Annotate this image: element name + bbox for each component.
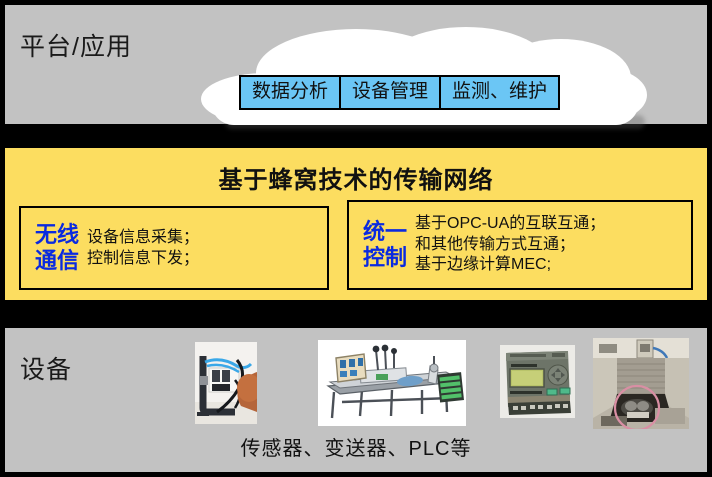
production-line-illustration <box>318 340 466 426</box>
plc-logic-module-photo <box>500 345 575 418</box>
plc-module-illustration <box>500 345 575 418</box>
unified-control-box: 统一 控制 基于OPC-UA的互联互通； 和其他传输方式互通； 基于边缘计算ME… <box>347 200 693 290</box>
unified-control-keyword: 统一 控制 <box>349 219 415 271</box>
network-band-title: 基于蜂窝技术的传输网络 <box>5 160 707 195</box>
device-band: 设备 <box>5 328 707 472</box>
keyword-line-1: 无线 <box>35 222 79 248</box>
machine-interior-illustration <box>593 338 689 429</box>
platform-band-label: 平台/应用 <box>20 27 132 63</box>
wireless-communication-box: 无线 通信 设备信息采集； 控制信息下发； <box>19 206 329 290</box>
wiring-terminal-illustration <box>195 342 257 424</box>
keyword-line-2: 控制 <box>363 245 407 271</box>
wiring-terminal-photo <box>195 342 257 424</box>
item-line: 设备信息采集； <box>87 227 327 248</box>
device-band-caption: 传感器、变送器、PLC等 <box>5 432 707 461</box>
cloud-box-data-analysis[interactable]: 数据分析 <box>239 75 341 110</box>
wireless-communication-keyword: 无线 通信 <box>21 222 87 274</box>
cloud-box-monitoring-maintenance[interactable]: 监测、维护 <box>439 75 560 110</box>
item-line: 基于边缘计算MEC; <box>415 255 691 275</box>
keyword-line-2: 通信 <box>35 248 79 274</box>
diagram-root: 平台/应用 数据分析 设备管理 监测、维护 基于蜂窝技术的传输网络 无线 通信 <box>0 0 712 477</box>
item-line: 和其他传输方式互通； <box>415 235 691 255</box>
transmission-network-band: 基于蜂窝技术的传输网络 无线 通信 设备信息采集； 控制信息下发； 统一 控制 … <box>5 148 707 300</box>
wireless-communication-items: 设备信息采集； 控制信息下发； <box>87 227 327 269</box>
cnc-machine-interior-photo <box>593 338 689 429</box>
item-line: 基于OPC-UA的互联互通； <box>415 214 691 234</box>
unified-control-items: 基于OPC-UA的互联互通； 和其他传输方式互通； 基于边缘计算MEC; <box>415 214 691 275</box>
conveyor-production-line-render <box>318 340 466 426</box>
cloud-box-device-management[interactable]: 设备管理 <box>339 75 441 110</box>
item-line: 控制信息下发； <box>87 248 327 269</box>
platform-application-band: 平台/应用 数据分析 设备管理 监测、维护 <box>5 5 707 124</box>
keyword-line-1: 统一 <box>363 219 407 245</box>
device-band-label: 设备 <box>20 350 72 386</box>
cloud-capability-box-group: 数据分析 设备管理 监测、维护 <box>239 75 560 110</box>
